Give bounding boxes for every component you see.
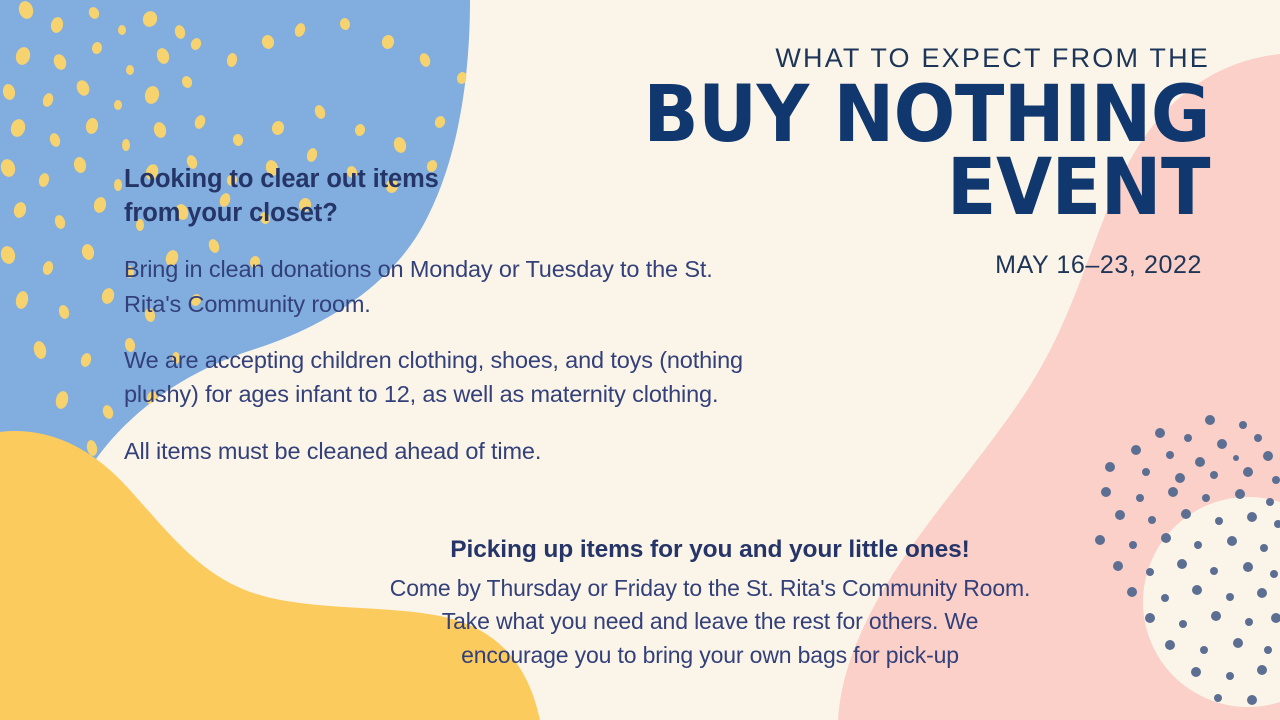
donation-section: Looking to clear out items from your clo…: [124, 162, 764, 468]
poster-canvas: WHAT TO EXPECT FROM THE BUY NOTHING EVEN…: [0, 0, 1280, 720]
donation-paragraph-3: All items must be cleaned ahead of time.: [124, 434, 764, 468]
pickup-line-1: Come by Thursday or Friday to the St. Ri…: [300, 572, 1120, 605]
donation-lead: Looking to clear out items from your clo…: [124, 162, 764, 230]
cream-circle: [1143, 497, 1280, 707]
slate-dot-cluster: [1095, 415, 1280, 705]
pickup-lines: Come by Thursday or Friday to the St. Ri…: [300, 572, 1120, 672]
header-title-line1: BUY NOTHING: [606, 80, 1211, 152]
donation-paragraph-1: Bring in clean donations on Monday or Tu…: [124, 252, 764, 321]
donation-paragraph-2: We are accepting children clothing, shoe…: [124, 343, 764, 412]
pickup-line-2: Take what you need and leave the rest fo…: [300, 605, 1120, 638]
donation-lead-line2: from your closet?: [124, 196, 764, 230]
pickup-section: Picking up items for you and your little…: [300, 534, 1120, 672]
pickup-line-3: encourage you to bring your own bags for…: [300, 639, 1120, 672]
pickup-title: Picking up items for you and your little…: [300, 534, 1120, 566]
donation-lead-line1: Looking to clear out items: [124, 162, 764, 196]
